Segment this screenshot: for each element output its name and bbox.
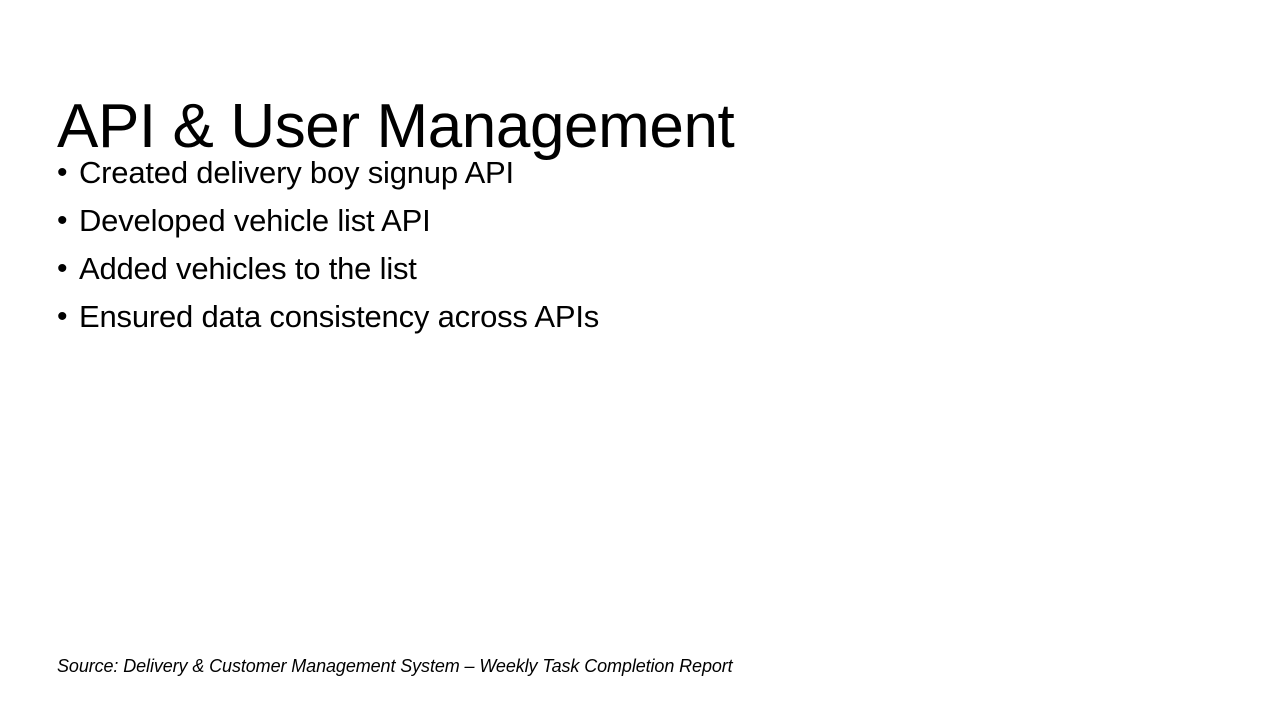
list-item: • Created delivery boy signup API <box>57 153 599 201</box>
bullet-point-icon: • <box>57 153 79 193</box>
bullet-point-icon: • <box>57 297 79 337</box>
list-item-label: Created delivery boy signup API <box>79 153 514 193</box>
list-item-label: Added vehicles to the list <box>79 249 417 289</box>
bullet-point-icon: • <box>57 201 79 241</box>
bullet-list: • Created delivery boy signup API • Deve… <box>57 153 599 345</box>
source-note: Source: Delivery & Customer Management S… <box>57 656 733 677</box>
bullet-point-icon: • <box>57 249 79 289</box>
list-item-label: Developed vehicle list API <box>79 201 431 241</box>
page-title: API & User Management <box>57 94 734 159</box>
list-item-label: Ensured data consistency across APIs <box>79 297 599 337</box>
content-placeholder-area <box>57 350 1223 640</box>
list-item: • Added vehicles to the list <box>57 249 599 297</box>
list-item: • Ensured data consistency across APIs <box>57 297 599 345</box>
slide-canvas: API & User Management • Created delivery… <box>0 0 1280 720</box>
list-item: • Developed vehicle list API <box>57 201 599 249</box>
